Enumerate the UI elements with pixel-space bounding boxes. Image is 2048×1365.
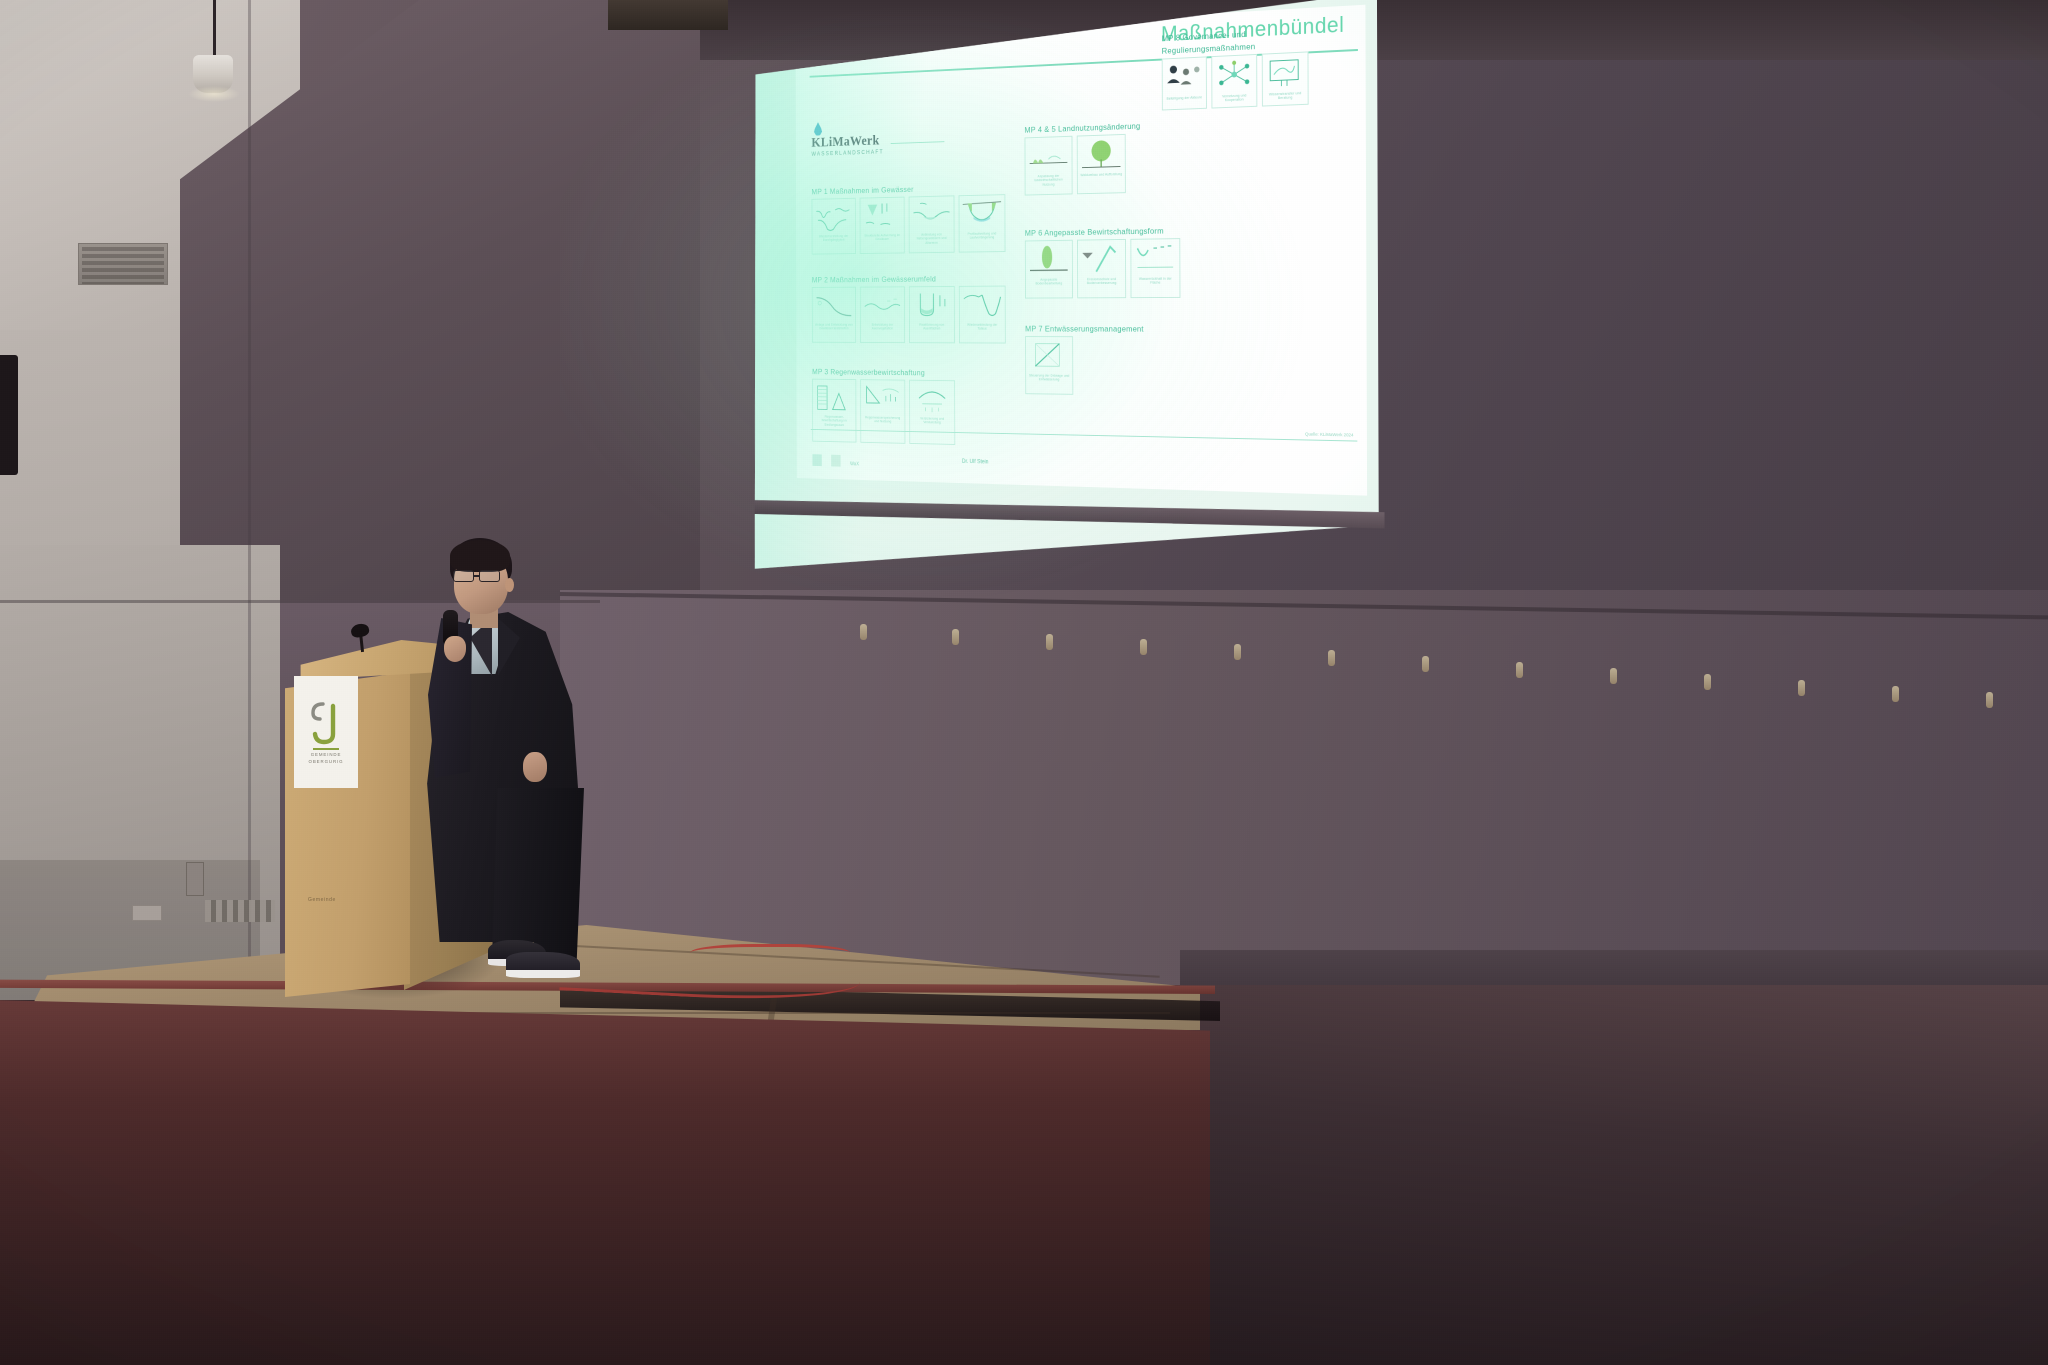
- measure-card: Erosionsschutz und Bodenverbesserung: [1077, 239, 1126, 298]
- measure-card: Wissenstransfer und Beratung: [1262, 51, 1309, 106]
- measure-card: Angepasste Bodenbearbeitung: [1025, 240, 1073, 299]
- water-drop-icon: [814, 122, 823, 136]
- flag-icon: [812, 454, 821, 466]
- card-caption: Reaktivierung von Auenflächen: [910, 321, 954, 333]
- measure-card: Entwicklung der Auenvegetation: [860, 286, 905, 343]
- card-row: Wiederherstellung der Durchgängigkeit St…: [812, 194, 1006, 254]
- gemeinde-logo-icon: [309, 700, 343, 746]
- wall-peg: [1516, 662, 1523, 678]
- measure-card: Anbindung von Nebengewässern und Altarme…: [909, 195, 955, 253]
- valley-reconnection-icon: [962, 289, 1002, 321]
- logo-tagline: WASSERLANDSCHAFT: [811, 150, 887, 158]
- glasses-lens-left: [453, 570, 474, 582]
- measure-card: Wasserrückhalt in der Fläche: [1130, 238, 1180, 298]
- card-caption: Profilaufweitung und Laufverlängerung: [959, 230, 1004, 243]
- door-gap: [0, 355, 18, 475]
- slide-section-mp6: MP 6 Angepasste Bewirtschaftungsform Ang…: [1025, 226, 1181, 299]
- card-caption: Wissenstransfer und Beratung: [1263, 89, 1308, 104]
- card-caption: Erosionsschutz und Bodenverbesserung: [1078, 275, 1125, 288]
- glasses-lens-right: [479, 570, 500, 582]
- profile-widening-icon: [962, 198, 1002, 230]
- card-caption: Regenwasser­bewirtschaftung im Siedlungs…: [813, 413, 856, 430]
- wall-peg: [1140, 639, 1147, 655]
- agriculture-icon: [1028, 140, 1069, 173]
- section-heading: MP 3 Regenwasserbewirtschaftung: [812, 367, 955, 378]
- slide-content: Maßnahmenbündel KLiMaWerk WASSERLANDSCHA…: [796, 5, 1368, 496]
- erosion-control-icon: [1081, 243, 1123, 276]
- wax-wordmark: WaX: [850, 462, 859, 468]
- card-caption: Steuerung der Dränage und Entwässerung: [1026, 372, 1072, 385]
- slide-section-mp8: MP 8 Governance- und Regulierungsmaßnahm…: [1162, 26, 1309, 111]
- measure-card: Wiederherstellung der Durchgängigkeit: [812, 198, 856, 255]
- wall-peg: [1422, 656, 1429, 672]
- wall-peg: [1798, 680, 1805, 696]
- measure-card: Strukturelle Aufwertung im Gewässer: [860, 197, 905, 254]
- presenter-hand-right: [444, 636, 466, 662]
- infiltration-icon: [912, 383, 951, 415]
- card-row: Steuerung der Dränage und Entwässerung: [1025, 336, 1144, 396]
- card-caption: Vernetzung und Kooperation: [1212, 91, 1256, 105]
- card-caption: Regenwasser­speicherung und Nutzung: [861, 414, 904, 427]
- project-logo-wax: WaX: [850, 462, 859, 468]
- slide-presenter-credit: Dr. Ulf Stein: [962, 459, 989, 465]
- glasses-bridge: [474, 575, 480, 577]
- slide-section-mp7: MP 7 Entwässerungsmanagement Steuerung d…: [1025, 324, 1144, 396]
- presentation-board-icon: [1263, 55, 1308, 90]
- card-caption: Wiederherstellung der Durchgängigkeit: [812, 232, 855, 244]
- card-caption: Entwicklung der Auenvegetation: [861, 321, 904, 333]
- wall-peg: [1328, 650, 1335, 666]
- section-heading: MP 7 Entwässerungsmanagement: [1025, 324, 1144, 334]
- card-caption: Angepasste Bodenbearbeitung: [1026, 276, 1072, 289]
- slide-footer-logos: WaX: [812, 454, 859, 467]
- measure-card: Anpassung der landwirtschaftlichen Nutzu…: [1025, 136, 1073, 196]
- stakeholder-group-icon: [1163, 60, 1206, 95]
- slide-section-mp2: MP 2 Maßnahmen im Gewässerumfeld Anlage …: [812, 273, 1006, 343]
- measure-card: Vernetzung und Kooperation: [1211, 54, 1257, 109]
- wall-junction-box[interactable]: [186, 862, 204, 896]
- funder-logo-bmbf: [812, 454, 821, 466]
- podium-signature: Gemeinde: [308, 897, 336, 903]
- measure-card: Regenwasser­bewirtschaftung im Siedlungs…: [812, 379, 856, 443]
- card-row: Beteiligung der Akteure: [1162, 51, 1309, 110]
- card-caption: Beteiligung der Akteure: [1164, 93, 1205, 103]
- placard-divider: [313, 748, 339, 750]
- card-caption: Wasserrückhalt in der Fläche: [1131, 275, 1179, 288]
- card-row: Anpassung der landwirtschaftlichen Nutzu…: [1025, 133, 1141, 195]
- screen-housing: [608, 0, 728, 30]
- wall-peg: [1046, 634, 1053, 650]
- section-heading: MP 6 Angepasste Bewirtschaftungsform: [1025, 226, 1180, 238]
- measure-card: Beteiligung der Akteure: [1162, 56, 1207, 110]
- card-caption: Wiederanbindung der Talaue: [960, 321, 1005, 333]
- floodplain-reactivation-icon: [912, 290, 951, 321]
- measure-card: Profilaufweitung und Laufverlängerung: [959, 194, 1006, 252]
- placard-line-1: GEMEINDE: [311, 752, 342, 757]
- measure-card: Steuerung der Dränage und Entwässerung: [1025, 336, 1073, 395]
- measure-card: Anlage und Entwicklung von Gewässerrands…: [812, 287, 856, 343]
- floor-right: [1160, 985, 2048, 1365]
- wall-peg: [1986, 692, 1993, 708]
- presenter-hand-left: [523, 752, 547, 782]
- presentation-photo: Maßnahmenbündel KLiMaWerk WASSERLANDSCHA…: [0, 0, 2048, 1365]
- logo-divider: [891, 141, 945, 144]
- wall-grille: [205, 900, 275, 922]
- measure-card: Waldumbau und Aufforstung: [1077, 134, 1126, 194]
- logo-wordmark: KLiMaWerk: [811, 133, 887, 151]
- section-heading: MP 2 Maßnahmen im Gewässerumfeld: [812, 273, 1006, 284]
- section-heading: MP 4 & 5 Landnutzungsänderung: [1024, 121, 1140, 135]
- slide-section-mp3: MP 3 Regenwasserbewirtschaftung Regenwas…: [812, 367, 955, 445]
- water-retention-icon: [1134, 242, 1177, 275]
- card-caption: Waldumbau und Aufforstung: [1078, 170, 1125, 179]
- wall-peg: [860, 624, 867, 640]
- presenter-hair-front: [450, 540, 510, 572]
- emblem-icon: [831, 455, 840, 467]
- card-caption: Strukturelle Aufwertung im Gewässer: [861, 231, 904, 244]
- measure-card: Versickerung und Verdunstung: [909, 380, 955, 445]
- presenter-glasses: [451, 570, 509, 583]
- measure-card: Reaktivierung von Auenflächen: [909, 286, 955, 343]
- measure-card: Wiederanbindung der Talaue: [959, 286, 1006, 344]
- wall-peg: [1234, 644, 1241, 660]
- riparian-strip-icon: [815, 290, 853, 321]
- slide-footnote: Quelle: KLiMaWerk 2024: [1305, 432, 1353, 438]
- forest-tree-icon: [1080, 138, 1122, 172]
- rainwater-storage-icon: [863, 383, 902, 415]
- drainage-control-icon: [1029, 340, 1070, 372]
- wall-vent: [78, 243, 168, 285]
- measure-card: Regenwasser­speicherung und Nutzung: [860, 379, 905, 444]
- sediment-icon: [863, 200, 902, 232]
- lamp-cord: [213, 0, 216, 60]
- floodplain-vegetation-icon: [863, 290, 902, 321]
- funder-logo-secondary: [831, 455, 840, 467]
- wall-peg: [1704, 674, 1711, 690]
- network-nodes-icon: [1212, 58, 1256, 93]
- wall-seam-left: [0, 600, 600, 603]
- wall-peg: [952, 629, 959, 645]
- placard-line-2: OBERGURIG: [309, 759, 344, 764]
- card-caption: Anbindung von Nebengewässern und Altarme…: [910, 231, 954, 248]
- card-caption: Anpassung der landwirtschaftlichen Nutzu…: [1025, 172, 1071, 190]
- podium-placard: GEMEINDE OBERGURIG: [294, 676, 358, 788]
- klimawerk-logo: KLiMaWerk WASSERLANDSCHAFT: [811, 119, 887, 157]
- card-caption: Versickerung und Verdunstung: [910, 415, 954, 428]
- urban-stormwater-icon: [815, 382, 853, 413]
- side-channel-icon: [912, 199, 951, 231]
- slide-section-mp1: MP 1 Maßnahmen im Gewässer Wiederherstel…: [812, 182, 1006, 255]
- power-cable-segment: [690, 944, 850, 966]
- soil-tillage-icon: [1028, 244, 1069, 276]
- lamp-glow: [188, 86, 240, 102]
- card-caption: Anlage und Entwicklung von Gewässerrands…: [813, 321, 856, 333]
- projection-screen: Maßnahmenbündel KLiMaWerk WASSERLANDSCHA…: [751, 0, 1379, 612]
- card-row: Angepasste Bodenbearbeitung Erosionsschu…: [1025, 238, 1181, 299]
- wall-peg: [1892, 686, 1899, 702]
- presenter-shoe-right: [506, 952, 580, 978]
- wall-vertical-seam: [248, 0, 251, 1010]
- stage-front-panel: [0, 985, 1210, 1365]
- card-row: Anlage und Entwicklung von Gewässerrands…: [812, 286, 1006, 344]
- channel-profile-icon: [815, 202, 853, 233]
- wall-peg: [1610, 668, 1617, 684]
- wall-socket[interactable]: [132, 905, 162, 921]
- slide-section-mp45: MP 4 & 5 Landnutzungsänderung Anpassung …: [1024, 121, 1140, 196]
- card-row: Regenwasser­bewirtschaftung im Siedlungs…: [812, 379, 955, 445]
